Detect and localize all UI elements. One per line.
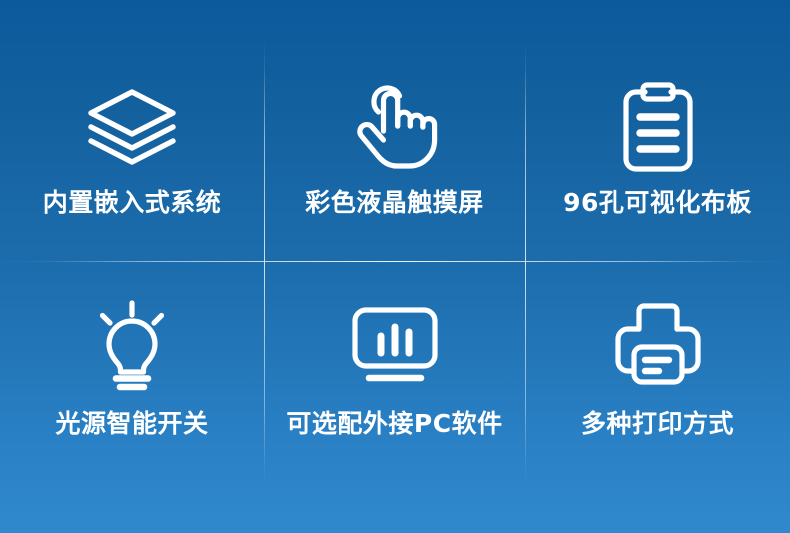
feature-item-96-well-board: 96孔可视化布板 (525, 0, 790, 261)
feature-label: 彩色液晶触摸屏 (305, 190, 484, 215)
lightbulb-icon (84, 299, 180, 389)
feature-item-pc-software: 可选配外接PC软件 (264, 261, 525, 533)
feature-item-touchscreen: 彩色液晶触摸屏 (264, 0, 525, 261)
feature-label: 96孔可视化布板 (563, 190, 752, 215)
clipboard-icon (610, 82, 706, 172)
feature-highlights-panel: 内置嵌入式系统 彩色液晶触摸屏 (0, 0, 790, 533)
feature-item-light-switch: 光源智能开关 (0, 261, 264, 533)
feature-label: 内置嵌入式系统 (43, 190, 222, 215)
printer-icon (610, 299, 706, 389)
touch-hand-icon (347, 82, 443, 172)
feature-item-printing: 多种打印方式 (525, 261, 790, 533)
layers-icon (84, 82, 180, 172)
feature-item-embedded-system: 内置嵌入式系统 (0, 0, 264, 261)
feature-label: 光源智能开关 (55, 411, 208, 436)
feature-grid: 内置嵌入式系统 彩色液晶触摸屏 (0, 0, 790, 533)
feature-label: 可选配外接PC软件 (286, 411, 502, 436)
bar-chart-monitor-icon (347, 299, 443, 389)
feature-label: 多种打印方式 (581, 411, 734, 436)
